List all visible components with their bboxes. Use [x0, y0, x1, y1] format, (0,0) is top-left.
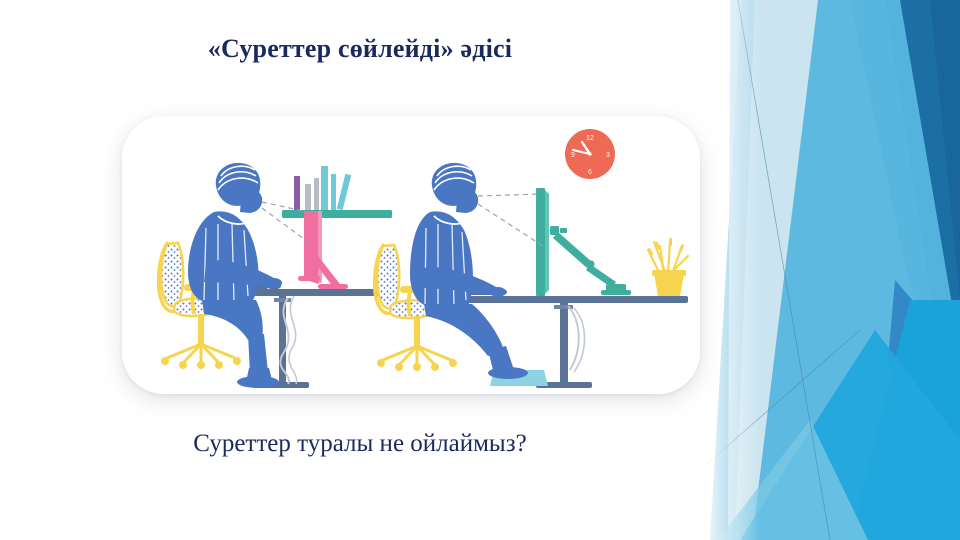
light-blue-wedge [718, 420, 868, 540]
light-blue-wedge [728, 0, 915, 540]
cyan-wedge [740, 330, 960, 540]
hairline [700, 330, 860, 470]
sky-blue-wedge [710, 0, 950, 540]
page-title: «Суреттер сөйлейді» әдісі [0, 34, 720, 64]
svg-text:12: 12 [586, 135, 594, 142]
pale-blue-wedge [735, 0, 925, 540]
svg-text:9: 9 [571, 152, 575, 159]
navy-wedge [870, 0, 960, 330]
slide: «Суреттер сөйлейді» әдісі [0, 0, 960, 540]
bright-cyan-wedge [850, 300, 960, 540]
steel-blue-wedge [888, 280, 938, 470]
svg-text:6: 6 [588, 169, 592, 176]
caption-text: Суреттер туралы не ойлаймыз? [0, 430, 720, 458]
illustration-artwork: 12 3 6 9 [122, 116, 700, 394]
illustration-card: 12 3 6 9 [122, 116, 700, 394]
mid-blue-wedge [752, 0, 958, 540]
geometric-corner-decoration [700, 0, 960, 540]
svg-text:3: 3 [606, 152, 610, 159]
hairline [738, 0, 830, 540]
wall-clock: 12 3 6 9 [565, 129, 615, 179]
deep-blue-wedge [850, 0, 960, 320]
